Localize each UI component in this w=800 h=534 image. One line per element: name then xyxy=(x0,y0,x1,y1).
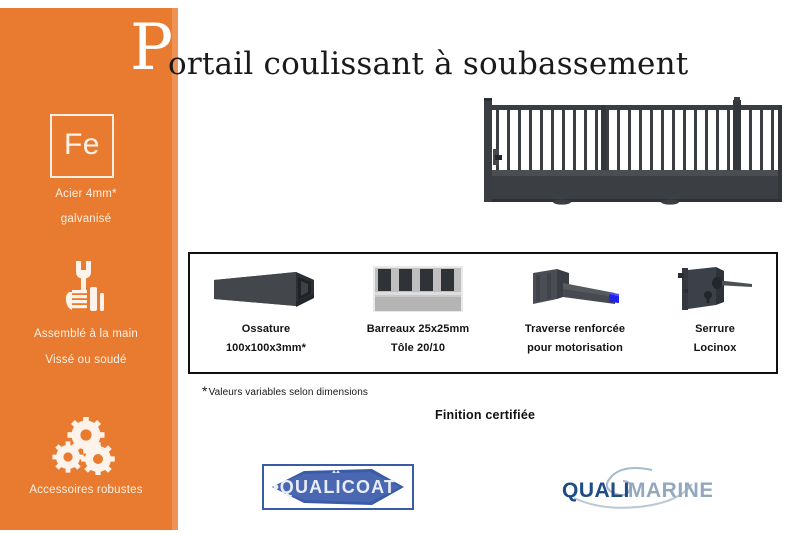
certification-heading: Finition certifiée xyxy=(435,408,535,422)
sidebar-item-label-accessoires: Accessoires robustes xyxy=(0,484,172,496)
qualimarine-logo: QUALI MARINE xyxy=(556,464,712,510)
steel-square-icon: Fe xyxy=(50,114,114,178)
feature-item-serrure: Serrure Locinox xyxy=(654,254,776,376)
feature-caption-line1: Barreaux 25x25mm xyxy=(367,320,470,339)
feature-item-barreaux: Barreaux 25x25mm Tôle 20/10 xyxy=(340,254,496,376)
footnote-star: * xyxy=(202,383,208,399)
lock-icon xyxy=(672,258,758,320)
feature-caption-line1: Serrure xyxy=(695,320,735,339)
sidebar-edge-highlight xyxy=(172,8,178,530)
feature-caption-line2: Locinox xyxy=(694,339,737,358)
feature-caption-line1: Ossature xyxy=(242,320,291,339)
feature-caption-line1: Traverse renforcée xyxy=(525,320,625,339)
qualicoat-wordmark: QUALICOAT xyxy=(280,477,396,497)
feature-caption-line2: Tôle 20/10 xyxy=(391,339,445,358)
qualimarine-wordmark-bold: QUALI xyxy=(562,479,630,502)
sidebar-item-label-assemble: Assemblé à la main xyxy=(0,328,172,340)
feature-item-ossature: Ossature 100x100x3mm* xyxy=(192,254,340,376)
sliding-gate-illustration xyxy=(484,93,784,205)
qualimarine-wordmark-light: MARINE xyxy=(628,479,712,502)
feature-caption-line2: 100x100x3mm* xyxy=(226,339,306,358)
sidebar-item-label-galvanise: galvanisé xyxy=(0,213,172,225)
footnote-text: Valeurs variables selon dimensions xyxy=(209,387,368,398)
sidebar-item-label-acier: Acier 4mm* xyxy=(0,188,172,200)
feature-item-traverse: Traverse renforcée pour motorisation xyxy=(496,254,654,376)
page-title: ortail coulissant à soubassement xyxy=(168,47,688,81)
features-box: Ossature 100x100x3mm* xyxy=(188,252,778,374)
steel-frame-profile-icon xyxy=(210,258,322,320)
fe-symbol-label: Fe xyxy=(52,116,112,176)
feature-caption-line2: pour motorisation xyxy=(527,339,623,358)
qualicoat-logo: QUALICOAT xyxy=(262,464,414,510)
bars-and-sheet-icon xyxy=(371,258,465,320)
reinforced-crossbeam-icon xyxy=(523,258,627,320)
footnote: *Valeurs variables selon dimensions xyxy=(202,383,368,399)
gears-icon xyxy=(0,415,172,477)
page-title-initial: P xyxy=(130,16,173,80)
spec-sheet: Fe Acier 4mm* galvanisé Assembl xyxy=(0,0,800,534)
sidebar-item-label-visse: Vissé ou soudé xyxy=(0,354,172,366)
wrench-hand-tools-icon xyxy=(0,258,172,320)
